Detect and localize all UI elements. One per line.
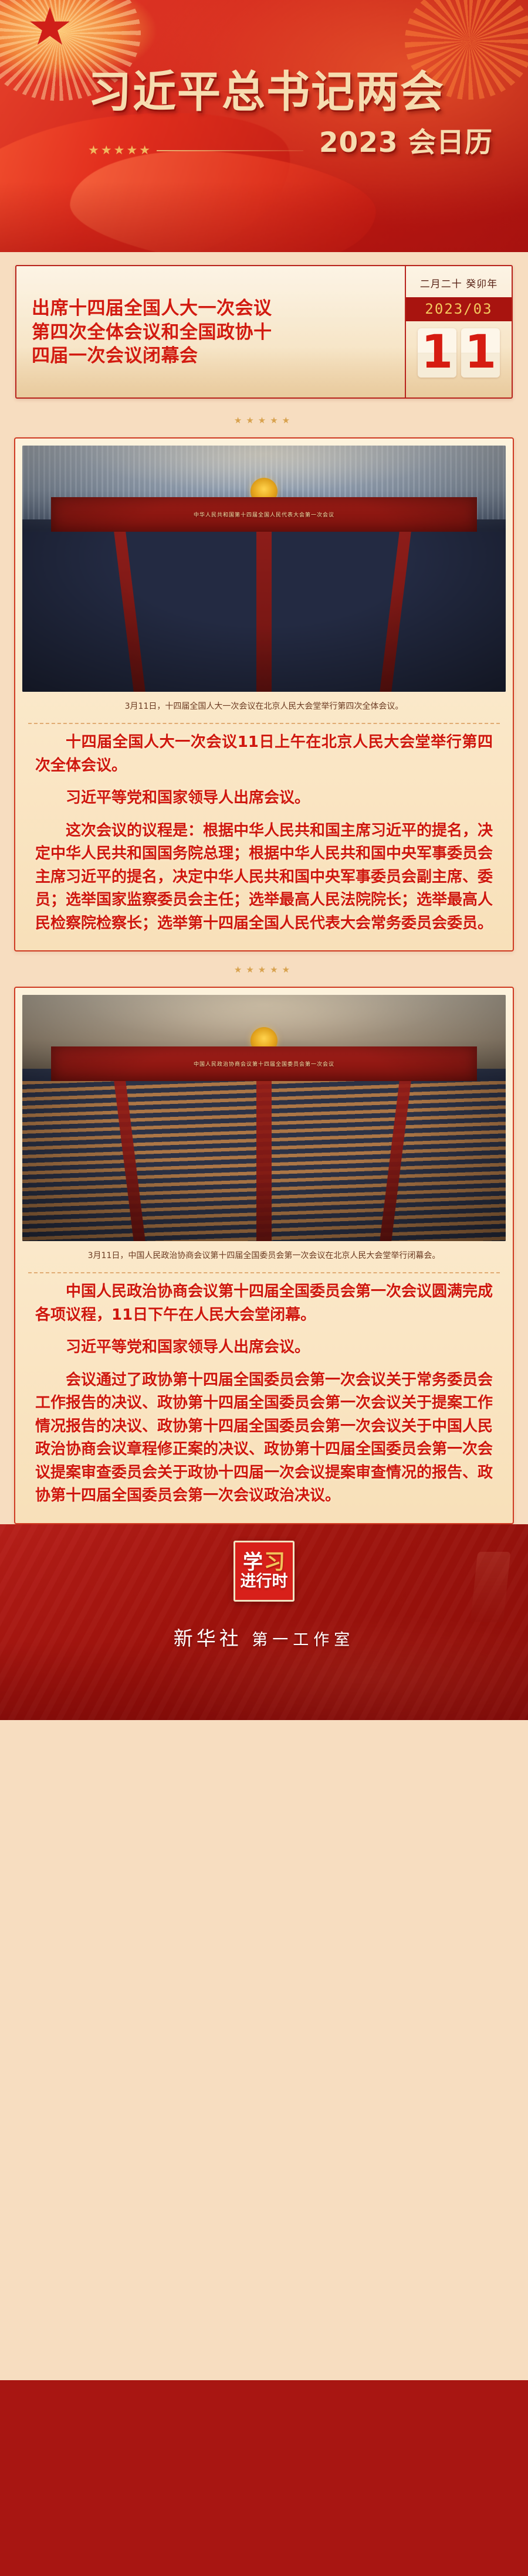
- headline-line-3: 四届一次会议闭幕会: [32, 344, 395, 368]
- five-stars-icon: ★★★★★: [88, 144, 152, 157]
- calendar-date-panel: 二月二十 癸卯年 2023/03 1 1: [405, 266, 512, 397]
- paragraph-cppcc-3: 会议通过了政协第十四届全国委员会第一次会议关于常务委员会工作报告的决议、政协第十…: [35, 1369, 493, 1508]
- photo-caption-npc: 3月11日，十四届全国人大一次会议在北京人民大会堂举行第四次全体会议。: [22, 692, 506, 715]
- title-subrow: ★★★★★ 2023 会日历: [88, 120, 493, 160]
- logo-line-jinxingshi: 进行时: [241, 1574, 288, 1590]
- paragraph-npc-1: 十四届全国人大一次会议11日上午在北京人民大会堂举行第四次全体会议。: [35, 731, 493, 777]
- title-block: 习近平总书记两会 ★★★★★ 2023 会日历: [88, 70, 510, 160]
- great-hall-illustration-2: 中国人民政治协商会议第十四届全国委员会第一次会议: [22, 995, 506, 1241]
- title-divider-line: [157, 150, 303, 151]
- headline-line-2: 第四次全体会议和全国政协十: [32, 321, 395, 345]
- star-divider-1: ★★★★★: [0, 405, 528, 433]
- poster-page: 习近平总书记两会 ★★★★★ 2023 会日历 出席十四届全国人大一次会议 第四…: [0, 0, 528, 2576]
- paragraph-cppcc-2: 习近平等党和国家领导人出席会议。: [35, 1336, 493, 1360]
- photo-vignette-2: [22, 995, 506, 1241]
- day-digit-1: 1: [421, 329, 453, 375]
- xuexi-logo-line1: 学 习: [243, 1552, 285, 1573]
- star-divider-2: ★★★★★: [0, 951, 528, 982]
- great-hall-illustration: 中华人民共和国第十四届全国人民代表大会第一次会议: [22, 446, 506, 692]
- page-title: 习近平总书记两会: [88, 70, 510, 114]
- logo-char-xue: 学: [243, 1552, 263, 1572]
- calendar-card: 出席十四届全国人大一次会议 第四次全体会议和全国政协十 四届一次会议闭幕会 二月…: [15, 265, 513, 399]
- xuexi-logo: 学 习 进行时: [233, 1541, 295, 1602]
- calendar-headline: 出席十四届全国人大一次会议 第四次全体会议和全国政协十 四届一次会议闭幕会: [16, 266, 405, 397]
- dashed-divider-1: [28, 723, 500, 724]
- paragraph-npc-2: 习近平等党和国家领导人出席会议。: [35, 787, 493, 810]
- day-digit-card-1: 1: [418, 328, 456, 378]
- news-section-npc: 中华人民共和国第十四届全国人民代表大会第一次会议 3月11日，十四届全国人大一次…: [14, 437, 514, 951]
- poster-footer: 学 习 进行时 新华社 第一工作室: [0, 1524, 528, 1720]
- poster-header: 习近平总书记两会 ★★★★★ 2023 会日历: [0, 0, 528, 252]
- year-month-label: 2023/03: [406, 297, 512, 321]
- logo-char-xi: 习: [264, 1552, 285, 1573]
- headline-line-1: 出席十四届全国人大一次会议: [32, 297, 395, 321]
- lunar-date-label: 二月二十 癸卯年: [406, 266, 512, 297]
- photo-caption-cppcc: 3月11日，中国人民政治协商会议第十四届全国委员会第一次会议在北京人民大会堂举行…: [22, 1241, 506, 1264]
- title-year-label: 2023 会日历: [319, 120, 493, 160]
- agency-name: 新华社: [174, 1627, 242, 1650]
- photo-cppcc-closing: 中国人民政治协商会议第十四届全国委员会第一次会议: [22, 995, 506, 1241]
- dashed-divider-2: [28, 1272, 500, 1273]
- calendar-zone: 出席十四届全国人大一次会议 第四次全体会议和全国政协十 四届一次会议闭幕会 二月…: [0, 252, 528, 405]
- news-section-cppcc: 中国人民政治协商会议第十四届全国委员会第一次会议 3月11日，中国人民政治协商会…: [14, 987, 514, 1524]
- paragraph-npc-3: 这次会议的议程是：根据中华人民共和国主席习近平的提名，决定中华人民共和国国务院总…: [35, 820, 493, 936]
- day-digit-2: 1: [465, 329, 496, 375]
- photo-vignette: [22, 446, 506, 692]
- title-year: 2023: [319, 127, 398, 159]
- stars-rule: ★★★★★: [88, 144, 303, 160]
- photo-npc-plenary: 中华人民共和国第十四届全国人民代表大会第一次会议: [22, 446, 506, 692]
- studio-name: 第一工作室: [252, 1631, 354, 1649]
- body-text-npc: 十四届全国人大一次会议11日上午在北京人民大会堂举行第四次全体会议。 习近平等党…: [22, 728, 506, 935]
- body-text-cppcc: 中国人民政治协商会议第十四届全国委员会第一次会议圆满完成各项议程，11日下午在人…: [22, 1277, 506, 1508]
- day-flip-cards: 1 1: [406, 321, 512, 387]
- day-digit-card-2: 1: [461, 328, 500, 378]
- agency-credit: 新华社 第一工作室: [0, 1623, 528, 1651]
- title-subtitle: 会日历: [408, 127, 493, 159]
- header-fade-overlay: [0, 182, 528, 252]
- paragraph-cppcc-1: 中国人民政治协商会议第十四届全国委员会第一次会议圆满完成各项议程，11日下午在人…: [35, 1280, 493, 1327]
